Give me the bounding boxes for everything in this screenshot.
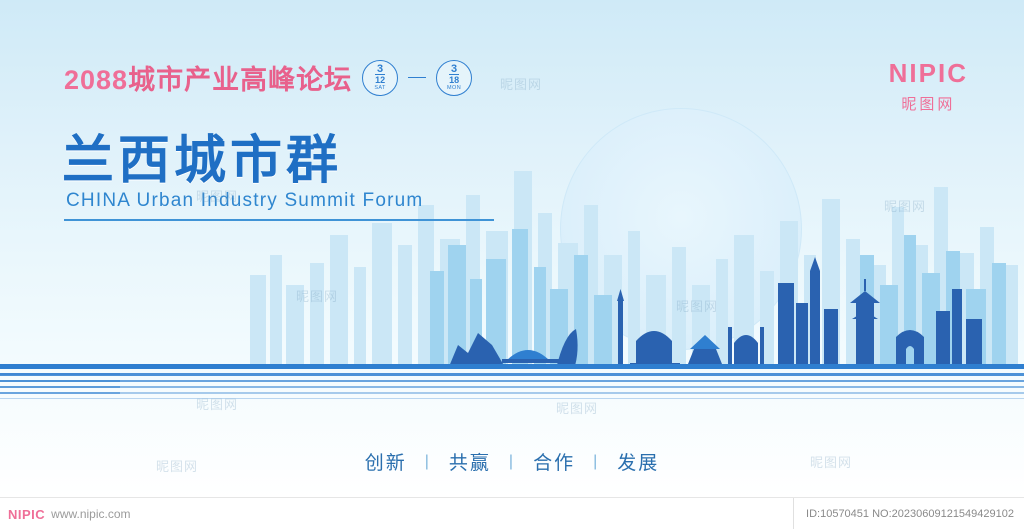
headline-year: 2088 bbox=[64, 65, 128, 95]
date-start-day: 12 bbox=[375, 74, 385, 85]
slogan-item-2: 共赢 bbox=[449, 448, 491, 475]
headline-rest: 城市产业高峰论坛 bbox=[128, 65, 352, 95]
date-chip-start: 3 12 SAT bbox=[362, 60, 398, 96]
slogan-separator-3: | bbox=[593, 453, 599, 471]
skyline-landmarks-layer bbox=[0, 249, 1024, 369]
date-start-month: 3 bbox=[377, 64, 383, 74]
date-chip-end: 3 18 MON bbox=[436, 60, 472, 96]
slogan-separator-1: | bbox=[425, 453, 431, 471]
headline-text: 2088城市产业高峰论坛 bbox=[64, 58, 352, 97]
nipic-logo: NIPIC 昵图网 bbox=[889, 58, 968, 114]
page-title: 兰西城市群 bbox=[62, 118, 342, 193]
date-end-weekday: MON bbox=[447, 85, 461, 91]
date-end-day: 18 bbox=[449, 74, 459, 85]
screenshot-root: 2088城市产业高峰论坛 3 12 SAT 3 18 MON 兰西城市群 CHI… bbox=[0, 0, 1024, 529]
date-end-month: 3 bbox=[451, 64, 457, 74]
page-subtitle: CHINA Urban Industry Summit Forum bbox=[66, 190, 423, 212]
slogan-separator-2: | bbox=[509, 453, 515, 471]
water-stripes bbox=[0, 364, 1024, 402]
slogan-item-1: 创新 bbox=[365, 448, 407, 475]
footer-brand-group: NIPIC www.nipic.com bbox=[0, 507, 131, 522]
footer-brand: NIPIC bbox=[8, 507, 45, 522]
left-edge-lines bbox=[0, 364, 120, 402]
slogan-item-4: 发展 bbox=[617, 448, 659, 475]
headline-row: 2088城市产业高峰论坛 3 12 SAT 3 18 MON bbox=[64, 58, 472, 97]
date-start-weekday: SAT bbox=[374, 85, 386, 91]
footer-meta: ID:10570451 NO:20230609121549429102 bbox=[793, 498, 1024, 529]
footer-bar: NIPIC www.nipic.com ID:10570451 NO:20230… bbox=[0, 497, 1024, 529]
slogan-item-3: 合作 bbox=[533, 448, 575, 475]
poster-canvas: 2088城市产业高峰论坛 3 12 SAT 3 18 MON 兰西城市群 CHI… bbox=[0, 0, 1024, 497]
footer-url[interactable]: www.nipic.com bbox=[51, 507, 130, 521]
title-divider bbox=[64, 219, 494, 221]
watermark: 昵图网 bbox=[500, 74, 542, 93]
slogan-row: 创新 | 共赢 | 合作 | 发展 bbox=[0, 448, 1024, 475]
date-range-dash bbox=[408, 77, 426, 79]
nipic-logo-en: NIPIC bbox=[889, 58, 968, 89]
nipic-logo-cn: 昵图网 bbox=[889, 93, 968, 114]
